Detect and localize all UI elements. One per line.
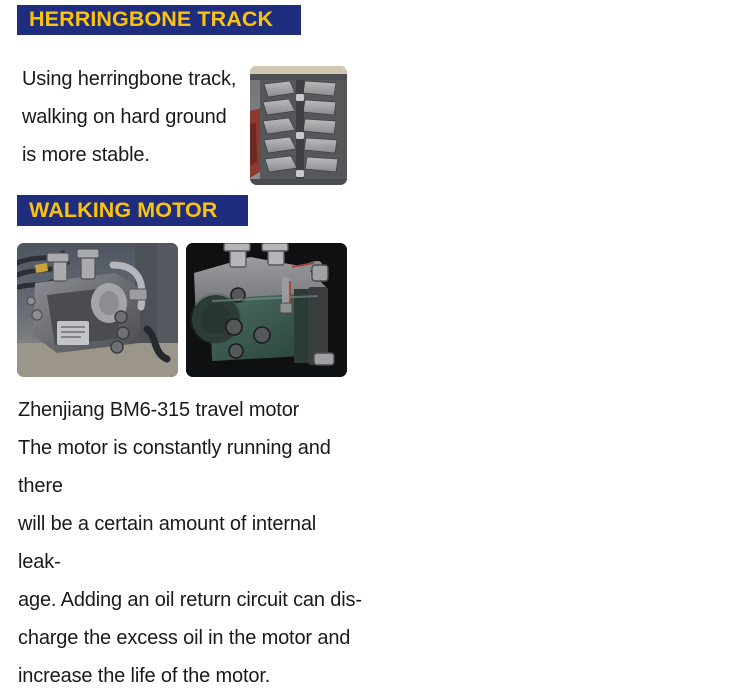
section-heading-label: HERRINGBONE TRACK: [29, 9, 273, 31]
right-column: NEW CAST DRIVE WHEEL The new casting dri…: [375, 0, 750, 680]
section-heading-herringbone-track: HERRINGBONE TRACK: [17, 5, 301, 35]
section-heading-walking-motor: WALKING MOTOR: [17, 195, 248, 226]
brochure-page: HERRINGBONE TRACK Using herringbone trac…: [0, 0, 750, 680]
walking-motor-photo-1: [17, 243, 178, 377]
walking-motor-image-1: [17, 243, 178, 377]
section-heading-label: WALKING MOTOR: [29, 200, 217, 222]
section-body-herringbone-track: Using herringbone track, walking on hard…: [22, 60, 247, 174]
herringbone-track-photo: [250, 66, 347, 185]
walking-motor-image-2: [186, 243, 347, 377]
section-body-walking-motor: Zhenjiang BM6-315 travel motor The motor…: [18, 391, 363, 695]
walking-motor-photo-2: [186, 243, 347, 377]
herringbone-track-image: [250, 66, 347, 185]
left-column: HERRINGBONE TRACK Using herringbone trac…: [0, 0, 375, 680]
